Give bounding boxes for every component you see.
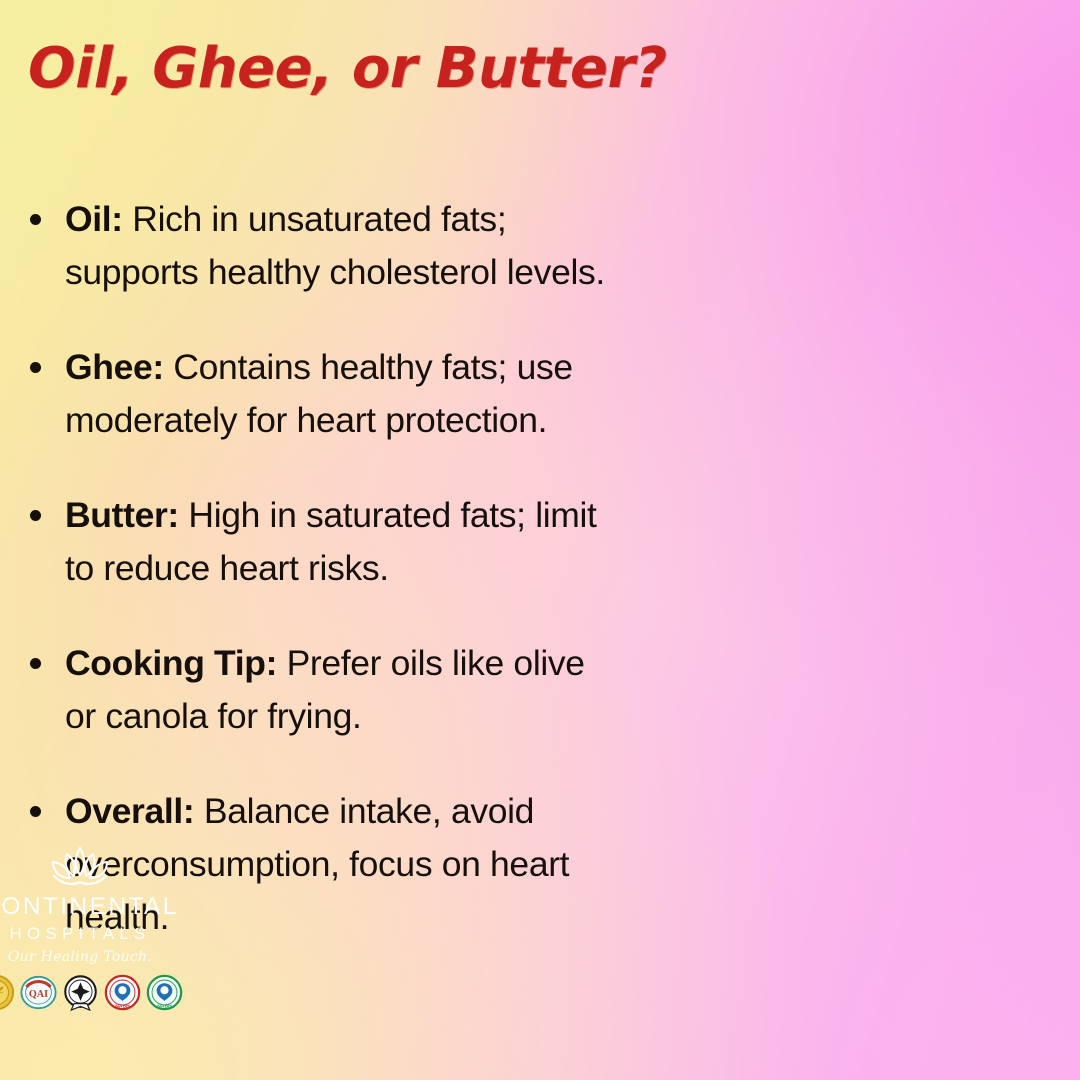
list-item-lead: Overall: <box>65 791 194 831</box>
list-item: Cooking Tip: Prefer oils like olive or c… <box>22 637 622 743</box>
lotus-icon <box>26 842 134 892</box>
list-item-lead: Butter: <box>65 495 179 535</box>
gold-medal-badge-icon <box>0 974 15 1011</box>
poster-canvas: Oil, Ghee, or Butter? Oil: Rich in unsat… <box>0 0 1080 1080</box>
list-item-text: Butter: High in saturated fats; limit to… <box>65 489 622 595</box>
list-item-lead: Ghee: <box>65 347 164 387</box>
list-item: Oil: Rich in unsaturated fats; supports … <box>22 193 622 299</box>
logo-subtitle: HOSPITALS <box>0 924 186 944</box>
star-seal-badge-icon <box>62 974 99 1011</box>
nabh-red-badge-icon: NABH <box>104 974 141 1011</box>
logo-tagline: Our Healing Touch. <box>0 949 186 965</box>
bullet-dot-icon <box>30 658 41 669</box>
qai-accreditation-badge-icon: QAI <box>20 974 57 1011</box>
list-item-text: Cooking Tip: Prefer oils like olive or c… <box>65 637 622 743</box>
list-item: Butter: High in saturated fats; limit to… <box>22 489 622 595</box>
list-item: Ghee: Contains healthy fats; use moderat… <box>22 341 622 447</box>
logo-name: CONTINENTAL <box>0 894 186 920</box>
nabh-green-badge-icon: NABH <box>146 974 183 1011</box>
list-item-text: Oil: Rich in unsaturated fats; supports … <box>65 193 622 299</box>
list-item-lead: Oil: <box>65 199 123 239</box>
svg-text:QAI: QAI <box>28 989 47 1000</box>
bullet-dot-icon <box>30 362 41 373</box>
hospital-logo: CONTINENTAL HOSPITALS Our Healing Touch.… <box>0 842 186 1011</box>
bullet-dot-icon <box>30 806 41 817</box>
svg-text:NABH: NABH <box>115 1003 130 1009</box>
bullet-dot-icon <box>30 510 41 521</box>
accreditation-badges: QAI NABH NABH <box>0 974 186 1011</box>
bullet-list: Oil: Rich in unsaturated fats; supports … <box>22 193 622 944</box>
svg-text:NABH: NABH <box>157 1003 172 1009</box>
list-item-body: Rich in unsaturated fats; supports healt… <box>65 199 605 292</box>
page-title: Oil, Ghee, or Butter? <box>28 36 1080 101</box>
list-item-text: Ghee: Contains healthy fats; use moderat… <box>65 341 622 447</box>
list-item-lead: Cooking Tip: <box>65 643 277 683</box>
bullet-dot-icon <box>30 214 41 225</box>
